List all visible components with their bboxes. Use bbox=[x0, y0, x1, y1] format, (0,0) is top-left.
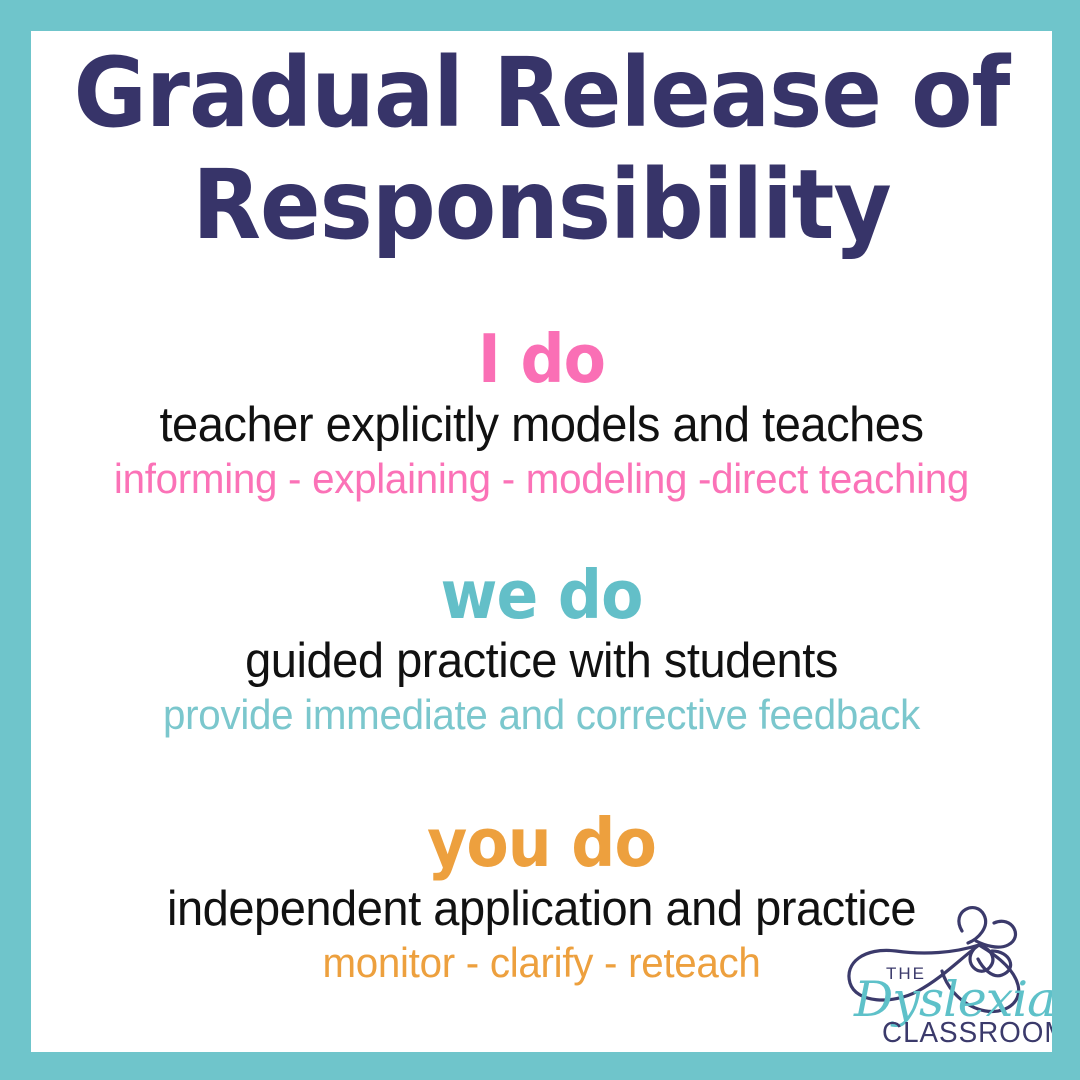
section-i-do-main-text: teacher explicitly models and teaches bbox=[51, 396, 1031, 454]
section-i-do-sub-text: informing - explaining - modeling -direc… bbox=[51, 454, 1031, 504]
section-we-do: we do guided practice with students prov… bbox=[31, 558, 1052, 740]
poster-canvas: Gradual Release of Responsibility I do t… bbox=[0, 0, 1080, 1080]
section-i-do: I do teacher explicitly models and teach… bbox=[31, 322, 1052, 504]
page-title-line-1: Gradual Release of bbox=[67, 37, 1017, 149]
brand-logo: THE Dyslexia CLASSROOM bbox=[834, 893, 1044, 1052]
page-title-line-2: Responsibility bbox=[67, 149, 1017, 261]
section-we-do-heading: we do bbox=[72, 558, 1011, 632]
section-we-do-sub-text: provide immediate and corrective feedbac… bbox=[51, 690, 1031, 740]
section-we-do-main-text: guided practice with students bbox=[51, 632, 1031, 690]
page-title: Gradual Release of Responsibility bbox=[67, 37, 1017, 261]
section-you-do-heading: you do bbox=[72, 806, 1011, 880]
section-i-do-heading: I do bbox=[72, 322, 1011, 396]
logo-classroom-text: CLASSROOM bbox=[882, 1017, 1052, 1050]
poster-card: Gradual Release of Responsibility I do t… bbox=[31, 31, 1052, 1052]
